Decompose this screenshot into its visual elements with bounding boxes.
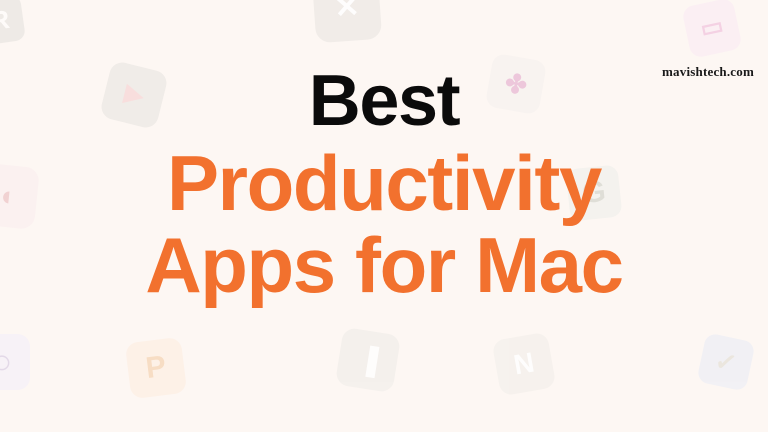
headline-line-3: Apps for Mac	[0, 227, 768, 303]
pocket-icon-glyph: P	[144, 352, 168, 384]
laptop-icon-glyph: ▭	[698, 14, 725, 42]
laptop-icon: ▭	[681, 0, 743, 59]
notion-icon-glyph: N	[512, 348, 537, 379]
reeder-icon-glyph: R	[0, 6, 11, 34]
xmind-icon-glyph: ✕	[333, 0, 360, 24]
todo-check-icon: ✓	[696, 332, 755, 391]
xmind-icon: ✕	[312, 0, 382, 43]
ring-app-icon: ○	[0, 334, 30, 390]
reeder-icon: R	[0, 0, 26, 46]
analytics-icon-glyph: ▐	[357, 346, 379, 375]
analytics-icon: ▐	[335, 327, 401, 393]
notion-icon: N	[492, 332, 557, 397]
site-watermark: mavishtech.com	[662, 64, 754, 80]
ring-app-icon-glyph: ○	[0, 345, 12, 379]
headline-line-1: Best	[0, 66, 768, 137]
pocket-icon: P	[125, 337, 187, 399]
headline-line-2: Productivity	[0, 145, 768, 221]
todo-check-icon-glyph: ✓	[713, 347, 740, 377]
headline-block: Best Productivity Apps for Mac	[0, 66, 768, 303]
thumbnail-canvas: R▶✕✤▭◖G○P▐N✓ mavishtech.com Best Product…	[0, 0, 768, 432]
